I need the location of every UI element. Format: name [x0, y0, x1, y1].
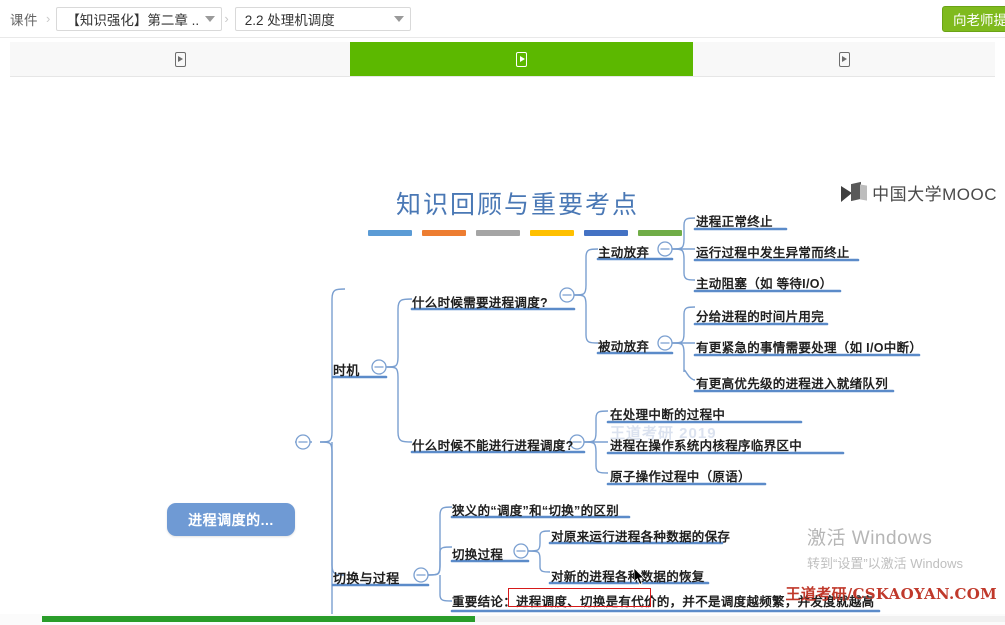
- node-during-interrupt[interactable]: 在处理中断的过程中: [610, 404, 725, 423]
- section-select[interactable]: 2.2 处理机调度: [235, 7, 411, 31]
- node-abnormal-termination[interactable]: 运行过程中发生异常而终止: [696, 242, 850, 261]
- play-icon: [516, 52, 527, 67]
- breadcrumb-separator-1: ›: [46, 11, 50, 26]
- lesson-segment-3[interactable]: [693, 42, 995, 76]
- conclusion-prefix: 重要结论：: [452, 595, 516, 609]
- node-timing[interactable]: 时机: [333, 360, 360, 379]
- ask-teacher-label: 向老师提: [953, 9, 1005, 29]
- slide-brand-text: 王道考研/CSKAOYAN.COM: [786, 583, 997, 604]
- node-active-give-up[interactable]: 主动放弃: [598, 242, 649, 261]
- node-when-need-scheduling[interactable]: 什么时候需要进程调度?: [412, 292, 548, 311]
- slide-canvas[interactable]: 知识回顾与重要考点 中国大学MOOC 王道考研 2019: [0, 77, 1005, 614]
- course-player: 课件 › 【知识强化】第二章 ... › 2.2 处理机调度 向老师提 知识回顾…: [0, 0, 1005, 625]
- node-timeslice-used-up[interactable]: 分给进程的时间片用完: [696, 306, 824, 325]
- windows-activation-title: 激活 Windows: [807, 523, 997, 550]
- node-save-old-process-data[interactable]: 对原来运行进程各种数据的保存: [551, 526, 730, 545]
- play-icon: [839, 52, 850, 67]
- video-progress-bar[interactable]: [0, 614, 1005, 625]
- node-higher-priority[interactable]: 有更高优先级的进程进入就绪队列: [696, 373, 888, 392]
- chevron-down-icon: [205, 16, 215, 22]
- mindmap-root-node[interactable]: 进程调度的...: [167, 503, 295, 536]
- lesson-segment-bar: [10, 42, 995, 77]
- breadcrumb-bar: 课件 › 【知识强化】第二章 ... › 2.2 处理机调度 向老师提: [0, 0, 1005, 38]
- mindmap-root-label: 进程调度的...: [188, 510, 274, 530]
- node-when-cannot-schedule[interactable]: 什么时候不能进行进程调度?: [412, 435, 574, 454]
- windows-activation-sub: 转到“设置”以激活 Windows: [807, 553, 997, 572]
- node-urgent-task[interactable]: 有更紧急的事情需要处理（如 I/O中断）: [696, 337, 922, 356]
- node-switch-and-process[interactable]: 切换与过程: [333, 568, 400, 587]
- windows-activation-watermark: 激活 Windows 转到“设置”以激活 Windows: [807, 523, 997, 572]
- node-passive-give-up[interactable]: 被动放弃: [598, 336, 649, 355]
- chapter-select[interactable]: 【知识强化】第二章 ...: [56, 7, 222, 31]
- node-kernel-critical-section[interactable]: 进程在操作系统内核程序临界区中: [610, 435, 802, 454]
- chapter-select-label: 【知识强化】第二章 ...: [66, 9, 199, 29]
- breadcrumb-separator-2: ›: [224, 11, 228, 26]
- node-restore-new-process-data[interactable]: 对新的进程各种数据的恢复: [551, 566, 705, 585]
- ask-teacher-button[interactable]: 向老师提: [942, 6, 1005, 32]
- node-active-block[interactable]: 主动阻塞（如 等待I/O）: [696, 273, 833, 292]
- chevron-down-icon: [394, 16, 404, 22]
- mouse-cursor: [634, 568, 646, 586]
- node-atomic-operation[interactable]: 原子操作过程中（原语）: [610, 466, 751, 485]
- lesson-segment-2-active[interactable]: [350, 42, 693, 76]
- node-narrow-difference[interactable]: 狭义的“调度”和“切换”的区别: [452, 500, 619, 519]
- node-switch-process[interactable]: 切换过程: [452, 544, 503, 563]
- node-normal-termination[interactable]: 进程正常终止: [696, 211, 773, 230]
- conclusion-highlight-box: [508, 588, 651, 607]
- play-icon: [175, 52, 186, 67]
- breadcrumb-root[interactable]: 课件: [10, 9, 38, 29]
- section-select-label: 2.2 处理机调度: [245, 9, 388, 29]
- lesson-segment-1[interactable]: [10, 42, 350, 76]
- progress-fill: [42, 616, 475, 622]
